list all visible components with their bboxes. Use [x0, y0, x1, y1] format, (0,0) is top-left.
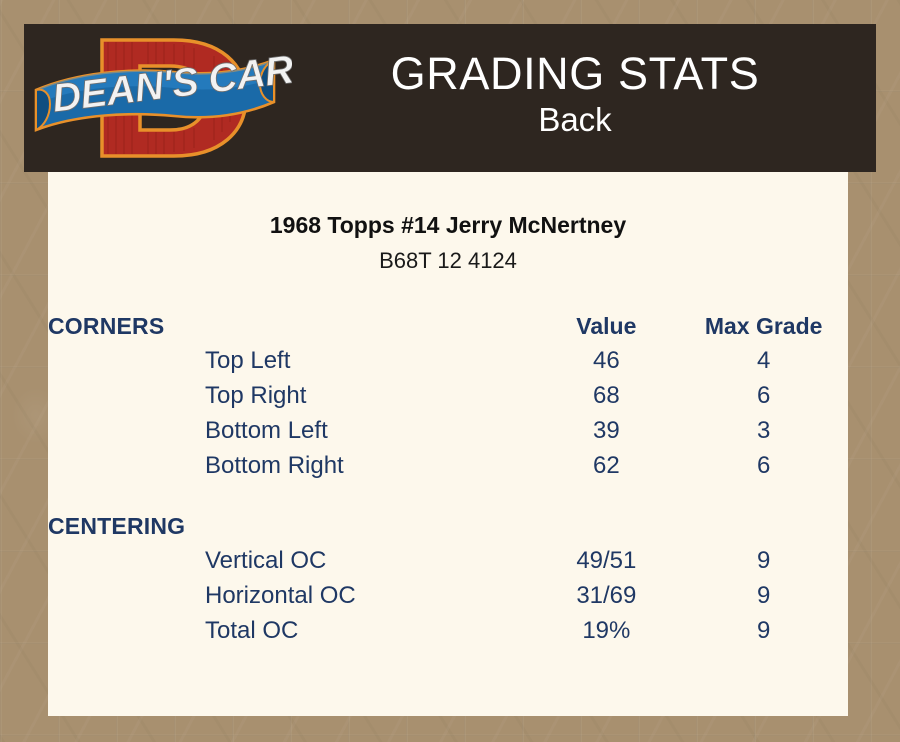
- row-max-grade: 9: [679, 578, 848, 613]
- table-row: Top Right686: [48, 378, 848, 413]
- column-header-value: Value: [533, 300, 679, 343]
- table-row: Total OC19%9: [48, 613, 848, 648]
- row-label: Top Left: [48, 343, 533, 378]
- row-label: Top Right: [48, 378, 533, 413]
- row-label: Bottom Right: [48, 448, 533, 483]
- table-row: Top Left464: [48, 343, 848, 378]
- row-max-grade: 9: [679, 543, 848, 578]
- row-max-grade: 6: [679, 378, 848, 413]
- table-row: Bottom Left393: [48, 413, 848, 448]
- row-value: 19%: [533, 613, 679, 648]
- row-max-grade: 6: [679, 448, 848, 483]
- column-header-value: [533, 500, 679, 543]
- page-title: GRADING STATS: [292, 51, 858, 98]
- section-title: CENTERING: [48, 500, 533, 543]
- row-label: Total OC: [48, 613, 533, 648]
- content-panel: 1968 Topps #14 Jerry McNertney B68T 12 4…: [48, 172, 848, 716]
- row-max-grade: 9: [679, 613, 848, 648]
- row-value: 68: [533, 378, 679, 413]
- row-max-grade: 4: [679, 343, 848, 378]
- table-spacer-row: [48, 483, 848, 500]
- deans-cards-logo[interactable]: DEAN'S CARDS: [24, 24, 292, 172]
- logo-svg: DEAN'S CARDS: [24, 24, 292, 172]
- row-value: 31/69: [533, 578, 679, 613]
- section-title: CORNERS: [48, 300, 533, 343]
- header-titles: GRADING STATS Back: [292, 51, 876, 140]
- header-bar: DEAN'S CARDS GRADING STATS Back: [24, 24, 876, 172]
- row-value: 49/51: [533, 543, 679, 578]
- card-title: 1968 Topps #14 Jerry McNertney: [48, 212, 848, 239]
- row-label: Vertical OC: [48, 543, 533, 578]
- row-max-grade: 3: [679, 413, 848, 448]
- spacer-cell: [48, 483, 848, 500]
- card-identifier: B68T 12 4124: [48, 248, 848, 274]
- table-row: Horizontal OC31/699: [48, 578, 848, 613]
- table-row: Bottom Right626: [48, 448, 848, 483]
- grading-stats-table: CORNERSValueMax GradeTop Left464Top Righ…: [48, 300, 848, 648]
- row-label: Horizontal OC: [48, 578, 533, 613]
- row-value: 62: [533, 448, 679, 483]
- section-header-row: CORNERSValueMax Grade: [48, 300, 848, 343]
- column-header-max-grade: [679, 500, 848, 543]
- column-header-max-grade: Max Grade: [679, 300, 848, 343]
- row-value: 46: [533, 343, 679, 378]
- row-value: 39: [533, 413, 679, 448]
- row-label: Bottom Left: [48, 413, 533, 448]
- table-row: Vertical OC49/519: [48, 543, 848, 578]
- stats-table: CORNERSValueMax GradeTop Left464Top Righ…: [48, 300, 848, 648]
- page-subtitle: Back: [292, 100, 858, 140]
- section-header-row: CENTERING: [48, 500, 848, 543]
